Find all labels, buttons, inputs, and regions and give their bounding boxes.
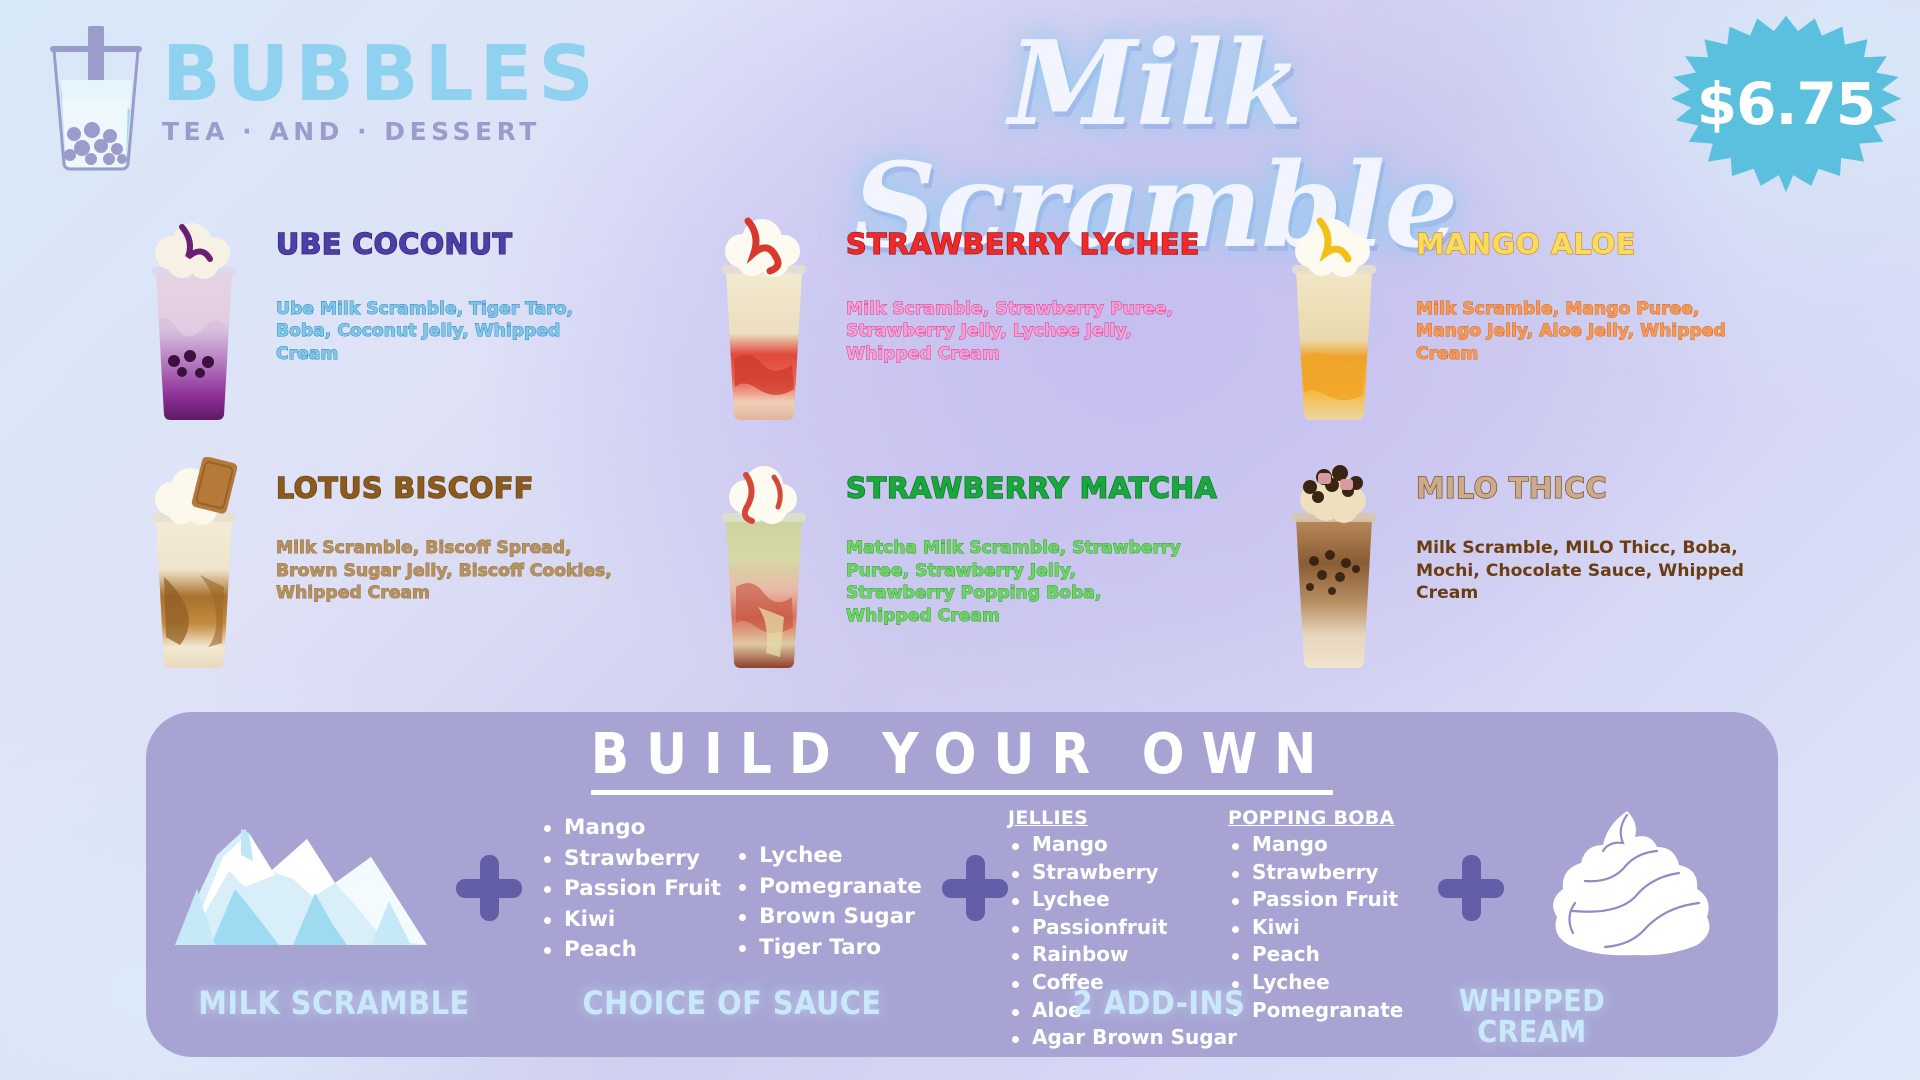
product-copy: STRAWBERRY MATCHA Matcha Milk Scramble, …	[828, 453, 1270, 628]
list-item[interactable]: Tiger Taro	[735, 933, 922, 964]
list-item[interactable]: Strawberry	[1228, 859, 1428, 887]
plus-icon-3	[1438, 855, 1504, 921]
product-description: Milk Scramble, Strawberry Puree, Strawbe…	[846, 298, 1186, 366]
product-name: UBE COCONUT	[276, 231, 700, 260]
brand-logo: BUBBLES TEA · AND · DESSERT	[42, 22, 600, 172]
product-copy: LOTUS BISCOFF Milk Scramble, Biscoff Spr…	[258, 453, 700, 606]
plus-icon-2	[942, 855, 1008, 921]
list-item[interactable]: Kiwi	[1228, 914, 1428, 942]
step-whipped-cream	[1504, 807, 1754, 957]
list-item[interactable]: Lychee	[735, 841, 922, 872]
milo-thicc-drink-photo	[1270, 457, 1398, 672]
brand-tagline: TEA · AND · DESSERT	[162, 117, 600, 146]
popping-boba-heading: POPPING BOBA	[1228, 807, 1428, 829]
product-name: MANGO ALOE	[1416, 231, 1810, 260]
list-item[interactable]: Passionfruit	[1008, 914, 1218, 942]
product-name: LOTUS BISCOFF	[276, 475, 700, 504]
product-copy: MILO THICC Milk Scramble, MILO Thicc, Bo…	[1398, 453, 1810, 606]
product-card-lotus-biscoff[interactable]: LOTUS BISCOFF Milk Scramble, Biscoff Spr…	[130, 453, 700, 701]
list-item[interactable]: Lychee	[1008, 886, 1218, 914]
jellies-heading: JELLIES	[1008, 807, 1218, 829]
list-item[interactable]: Pomegranate	[735, 872, 922, 903]
label-whipped-cream-line2: CREAM	[1372, 1018, 1692, 1049]
list-item[interactable]: Mango	[540, 813, 721, 844]
list-item[interactable]: Strawberry	[1008, 859, 1218, 887]
build-your-own-title: BUILD YOUR OWN	[591, 726, 1334, 795]
list-item[interactable]: Passion Fruit	[1228, 886, 1428, 914]
label-whipped-cream-line1: WHIPPED	[1372, 987, 1692, 1018]
list-item[interactable]: Passion Fruit	[540, 874, 721, 905]
product-card-strawberry-matcha[interactable]: STRAWBERRY MATCHA Matcha Milk Scramble, …	[700, 453, 1270, 701]
build-your-own-title-wrap: BUILD YOUR OWN	[146, 726, 1778, 795]
product-description: Ube Milk Scramble, Tiger Taro, Boba, Coc…	[276, 298, 616, 366]
product-copy: UBE COCONUT Ube Milk Scramble, Tiger Tar…	[258, 205, 700, 366]
brand-wordmark: BUBBLES	[162, 40, 600, 111]
price-badge: $6.75	[1666, 14, 1906, 194]
ice-mountain-icon	[175, 827, 427, 947]
product-description: Milk Scramble, Biscoff Spread, Brown Sug…	[276, 537, 616, 605]
list-item[interactable]: Peach	[1228, 941, 1428, 969]
product-copy: STRAWBERRY LYCHEE Milk Scramble, Strawbe…	[828, 205, 1270, 366]
product-card-mango-aloe[interactable]: MANGO ALOE Milk Scramble, Mango Puree, M…	[1270, 205, 1810, 453]
label-milk-scramble: MILK SCRAMBLE	[146, 987, 522, 1049]
boba-cup-icon	[42, 22, 150, 172]
strawberry-lychee-drink-photo	[700, 209, 828, 424]
product-card-ube-coconut[interactable]: UBE COCONUT Ube Milk Scramble, Tiger Tar…	[130, 205, 700, 453]
build-your-own-panel: BUILD YOUR OWN	[146, 712, 1778, 1057]
sauce-list-column-1: Mango Strawberry Passion Fruit Kiwi Peac…	[540, 813, 721, 966]
product-card-strawberry-lychee[interactable]: STRAWBERRY LYCHEE Milk Scramble, Strawbe…	[700, 205, 1270, 453]
list-item[interactable]: Rainbow	[1008, 941, 1218, 969]
product-description: Matcha Milk Scramble, Strawberry Puree, …	[846, 537, 1186, 628]
label-choice-of-sauce: CHOICE OF SAUCE	[522, 987, 942, 1049]
product-description: Milk Scramble, MILO Thicc, Boba, Mochi, …	[1416, 537, 1756, 605]
product-name: STRAWBERRY LYCHEE	[846, 231, 1270, 260]
list-item[interactable]: Kiwi	[540, 905, 721, 936]
strawberry-matcha-drink-photo	[700, 457, 828, 672]
step-choice-of-sauce: Mango Strawberry Passion Fruit Kiwi Peac…	[522, 807, 942, 966]
product-description: Milk Scramble, Mango Puree, Mango Jelly,…	[1416, 298, 1756, 366]
label-whipped-cream: WHIPPED CREAM	[1372, 987, 1692, 1049]
list-item[interactable]: Mango	[1008, 831, 1218, 859]
poster-header: BUBBLES TEA · AND · DESSERT Milk Scrambl…	[0, 0, 1920, 200]
product-name: STRAWBERRY MATCHA	[846, 475, 1270, 504]
ube-coconut-drink-photo	[130, 209, 258, 424]
menu-poster: BUBBLES TEA · AND · DESSERT Milk Scrambl…	[0, 0, 1920, 1080]
list-item[interactable]: Strawberry	[540, 844, 721, 875]
lotus-biscoff-drink-photo	[130, 457, 258, 672]
product-name: MILO THICC	[1416, 475, 1810, 504]
product-grid: UBE COCONUT Ube Milk Scramble, Tiger Tar…	[130, 205, 1810, 700]
plus-icon-1	[456, 855, 522, 921]
sauce-list-column-2: Lychee Pomegranate Brown Sugar Tiger Tar…	[721, 813, 922, 966]
price-value: $6.75	[1697, 70, 1875, 138]
product-copy: MANGO ALOE Milk Scramble, Mango Puree, M…	[1398, 205, 1810, 366]
mango-aloe-drink-photo	[1270, 209, 1398, 424]
build-your-own-steps: Mango Strawberry Passion Fruit Kiwi Peac…	[146, 807, 1778, 997]
step-labels: MILK SCRAMBLE CHOICE OF SAUCE 2 ADD-INS …	[146, 987, 1778, 1049]
list-item[interactable]: Peach	[540, 935, 721, 966]
list-item[interactable]: Mango	[1228, 831, 1428, 859]
label-add-ins: 2 ADD-INS	[942, 987, 1372, 1049]
product-card-milo-thicc[interactable]: MILO THICC Milk Scramble, MILO Thicc, Bo…	[1270, 453, 1810, 701]
step-milk-scramble	[146, 807, 456, 947]
whipped-cream-icon	[1539, 807, 1719, 957]
list-item[interactable]: Brown Sugar	[735, 902, 922, 933]
